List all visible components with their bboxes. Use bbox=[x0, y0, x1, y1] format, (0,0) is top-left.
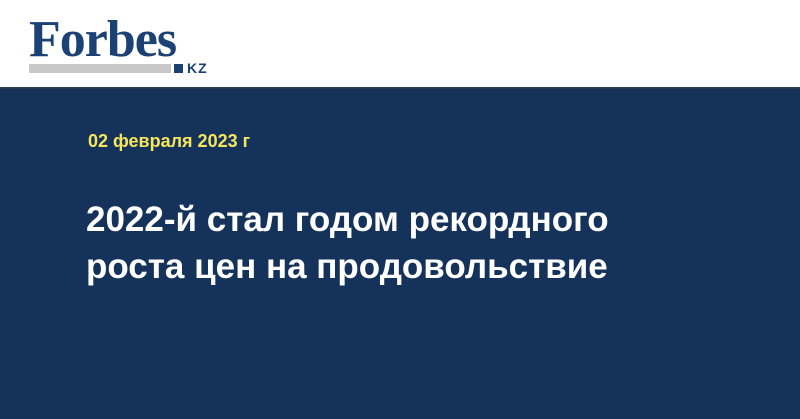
gray-bar-icon bbox=[29, 64, 171, 73]
forbes-kz-logo[interactable]: Forbes KZ bbox=[29, 14, 249, 76]
article-date: 02 февраля 2023 г bbox=[88, 130, 250, 152]
article-hero: 02 февраля 2023 г 2022-й стал годом реко… bbox=[0, 89, 800, 419]
article-page: Forbes KZ 02 февраля 2023 г 2022-й стал … bbox=[0, 0, 800, 419]
article-title: 2022-й стал годом рекордного роста цен н… bbox=[86, 196, 706, 290]
site-header: Forbes KZ bbox=[0, 0, 800, 88]
logo-suffix-kz: KZ bbox=[187, 61, 208, 75]
navy-square-icon bbox=[174, 64, 183, 73]
logo-wordmark: Forbes bbox=[29, 14, 176, 66]
